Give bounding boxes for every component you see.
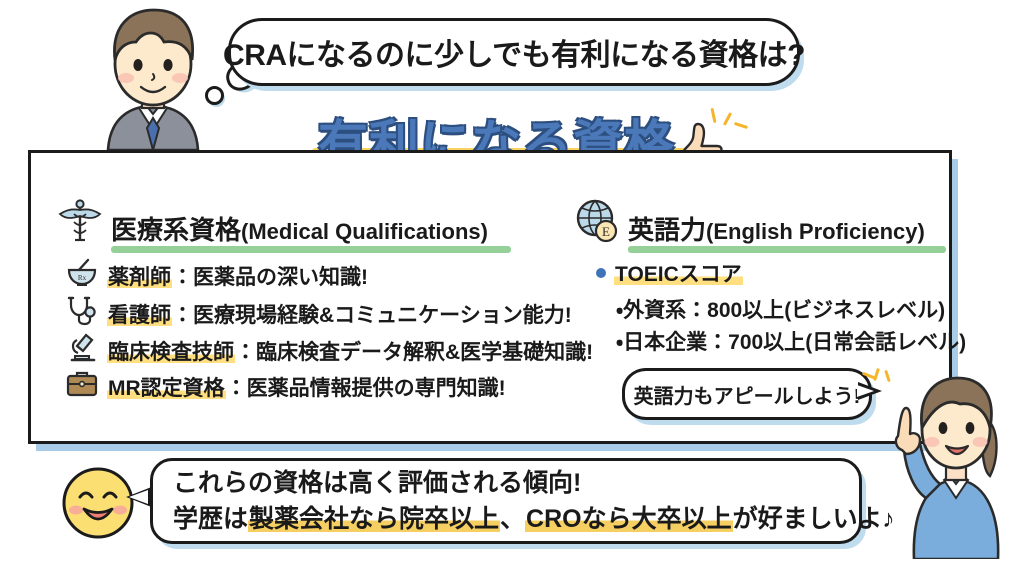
item-sep: ： xyxy=(226,377,247,400)
microscope-icon xyxy=(66,332,98,369)
item-sep: ： xyxy=(235,341,256,364)
list-item: MR認定資格：医薬品情報提供の専門知識! xyxy=(66,369,506,404)
score-value: 700以上 xyxy=(728,331,805,354)
score-sep: ： xyxy=(686,299,707,322)
female-character xyxy=(878,358,1024,559)
summary-line-2: 学歴は製薬会社なら院卒以上、CROなら大卒以上が好ましいよ♪ xyxy=(173,501,895,537)
mortar-pestle-icon: Rx xyxy=(66,258,98,293)
summary-line2-d: CROなら大卒以上 xyxy=(525,505,733,533)
caduceus-icon xyxy=(58,198,102,249)
medical-heading-en: (Medical Qualifications) xyxy=(241,219,488,244)
sparkle-lines xyxy=(862,368,896,394)
list-item: 看護師：医療現場経験&コミュニケーション能力! xyxy=(66,295,572,332)
item-desc: 医療現場経験&コミュニケーション能力! xyxy=(193,304,572,327)
summary-line2-a: 学歴は xyxy=(173,505,248,533)
medical-heading-ja: 医療系資格 xyxy=(111,215,241,245)
section-heading-medical: 医療系資格(Medical Qualifications) xyxy=(58,198,488,249)
english-heading-ja: 英語力 xyxy=(628,215,706,245)
score-row: ・日本企業：700以上(日常会話レベル) xyxy=(616,326,966,356)
score-note: (ビジネスレベル) xyxy=(784,299,945,322)
score-note: (日常会話レベル) xyxy=(805,331,966,354)
english-tip-bubble: 英語力もアピールしよう! xyxy=(622,368,872,420)
english-heading-en: (English Proficiency) xyxy=(706,219,925,244)
score-row: ・外資系：800以上(ビジネスレベル) xyxy=(616,294,945,324)
item-name: 薬剤師 xyxy=(107,266,172,289)
toeic-bullet: TOEICスコア xyxy=(596,258,743,288)
smiley-face-icon xyxy=(60,465,136,541)
item-desc: 医薬品情報提供の専門知識! xyxy=(247,377,506,400)
male-character xyxy=(78,2,228,150)
item-name: 看護師 xyxy=(107,304,172,327)
question-bubble: CRAになるのに少しでも有利になる資格は? xyxy=(228,18,800,86)
medical-heading-underline xyxy=(111,246,511,253)
summary-line-1: これらの資格は高く評価される傾向! xyxy=(173,465,581,501)
english-heading-underline xyxy=(628,246,946,253)
item-sep: ： xyxy=(172,304,193,327)
infographic-canvas: CRAになるのに少しでも有利になる資格は? 有利になる資格 xyxy=(0,0,1024,559)
speech-tail-dot xyxy=(205,86,224,105)
briefcase-icon xyxy=(66,369,98,404)
summary-bubble: これらの資格は高く評価される傾向! 学歴は製薬会社なら院卒以上、CROなら大卒以… xyxy=(150,458,862,544)
question-bubble-text: CRAになるのに少しでも有利になる資格は? xyxy=(223,30,805,74)
list-item: Rx 薬剤師：医薬品の深い知識! xyxy=(66,258,368,293)
list-item: 臨床検査技師：臨床検査データ解釈&医学基礎知識! xyxy=(66,332,593,369)
toeic-bullet-label: TOEICスコア xyxy=(614,263,743,286)
svg-text:Rx: Rx xyxy=(78,274,87,282)
bullet-dot-icon xyxy=(596,268,606,278)
sparkle-lines xyxy=(700,108,742,138)
item-desc: 医薬品の深い知識! xyxy=(193,266,368,289)
globe-e-icon: E xyxy=(575,198,619,249)
item-name: 臨床検査技師 xyxy=(107,341,235,364)
score-sep: ： xyxy=(707,331,728,354)
score-label: 外資系 xyxy=(623,299,686,322)
summary-line2-b: 製薬会社なら院卒以上 xyxy=(248,505,500,533)
stethoscope-icon xyxy=(66,295,98,332)
item-name: MR認定資格 xyxy=(107,377,226,400)
item-desc: 臨床検査データ解釈&医学基礎知識! xyxy=(256,341,593,364)
score-label: 日本企業 xyxy=(623,331,707,354)
summary-line2-c: 、 xyxy=(500,505,525,533)
section-heading-english: E 英語力(English Proficiency) xyxy=(575,198,925,249)
item-sep: ： xyxy=(172,266,193,289)
english-tip-text: 英語力もアピールしよう! xyxy=(634,380,861,409)
score-value: 800以上 xyxy=(707,299,784,322)
svg-text:E: E xyxy=(602,224,610,239)
summary-line2-e: が好ましいよ♪ xyxy=(733,505,895,533)
